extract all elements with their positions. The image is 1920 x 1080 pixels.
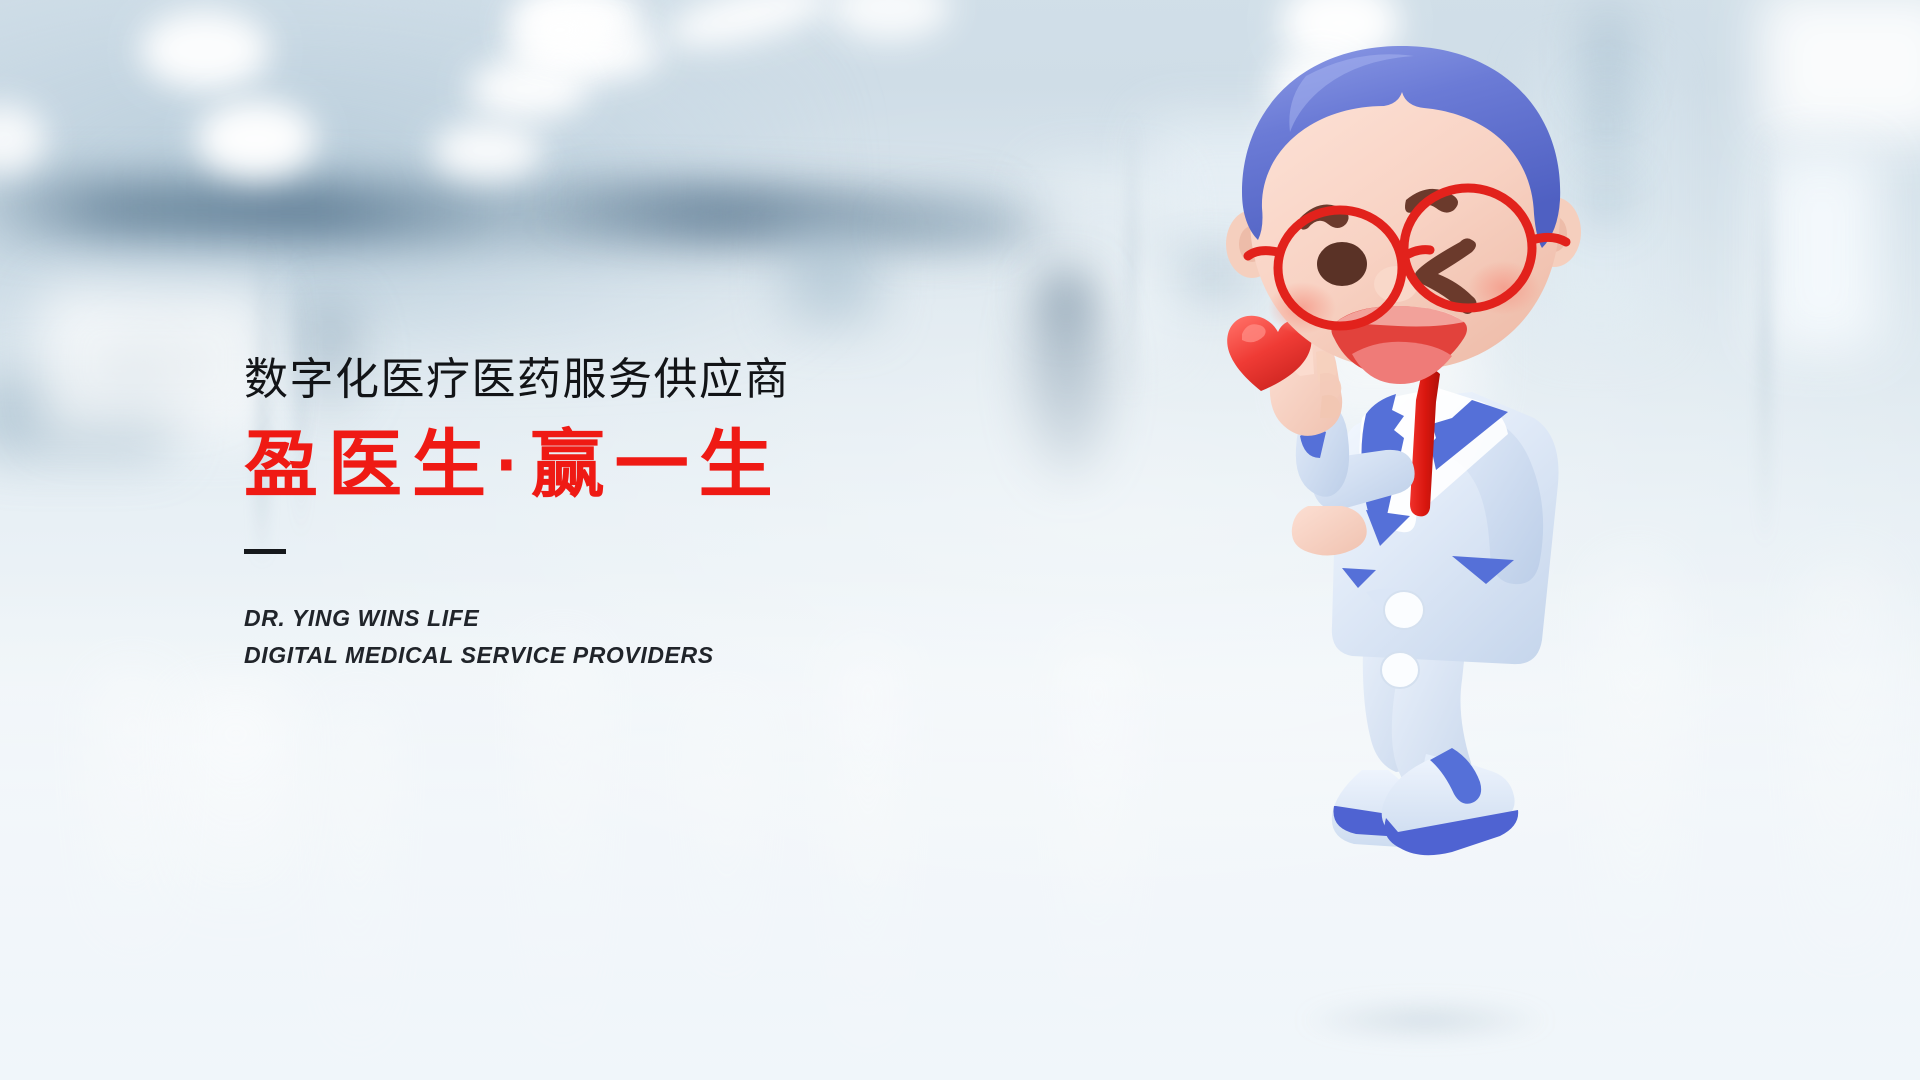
- page-title: 数字化医疗医药服务供应商: [244, 356, 1064, 404]
- coat-button-bottom: [1381, 652, 1419, 688]
- character-hand-left-lower: [1292, 506, 1367, 556]
- subtitle-line-2: DIGITAL MEDICAL SERVICE PROVIDERS: [244, 637, 1064, 674]
- divider: [244, 549, 286, 554]
- hero-copy: 数字化医疗医药服务供应商 盈医生·赢一生 DR. YING WINS LIFE …: [244, 356, 1064, 675]
- slogan: 盈医生·赢一生: [244, 426, 1064, 504]
- subtitle-line-1: DR. YING WINS LIFE: [244, 600, 1064, 637]
- character-shadow: [1300, 1000, 1550, 1040]
- character-body: [1227, 316, 1558, 855]
- doctor-mascot-illustration: [1216, 36, 1686, 856]
- subtitle-group: DR. YING WINS LIFE DIGITAL MEDICAL SERVI…: [244, 600, 1064, 675]
- character-eye-open: [1317, 242, 1367, 286]
- coat-button-top: [1384, 591, 1424, 629]
- hero-banner: 数字化医疗医药服务供应商 盈医生·赢一生 DR. YING WINS LIFE …: [0, 0, 1920, 1080]
